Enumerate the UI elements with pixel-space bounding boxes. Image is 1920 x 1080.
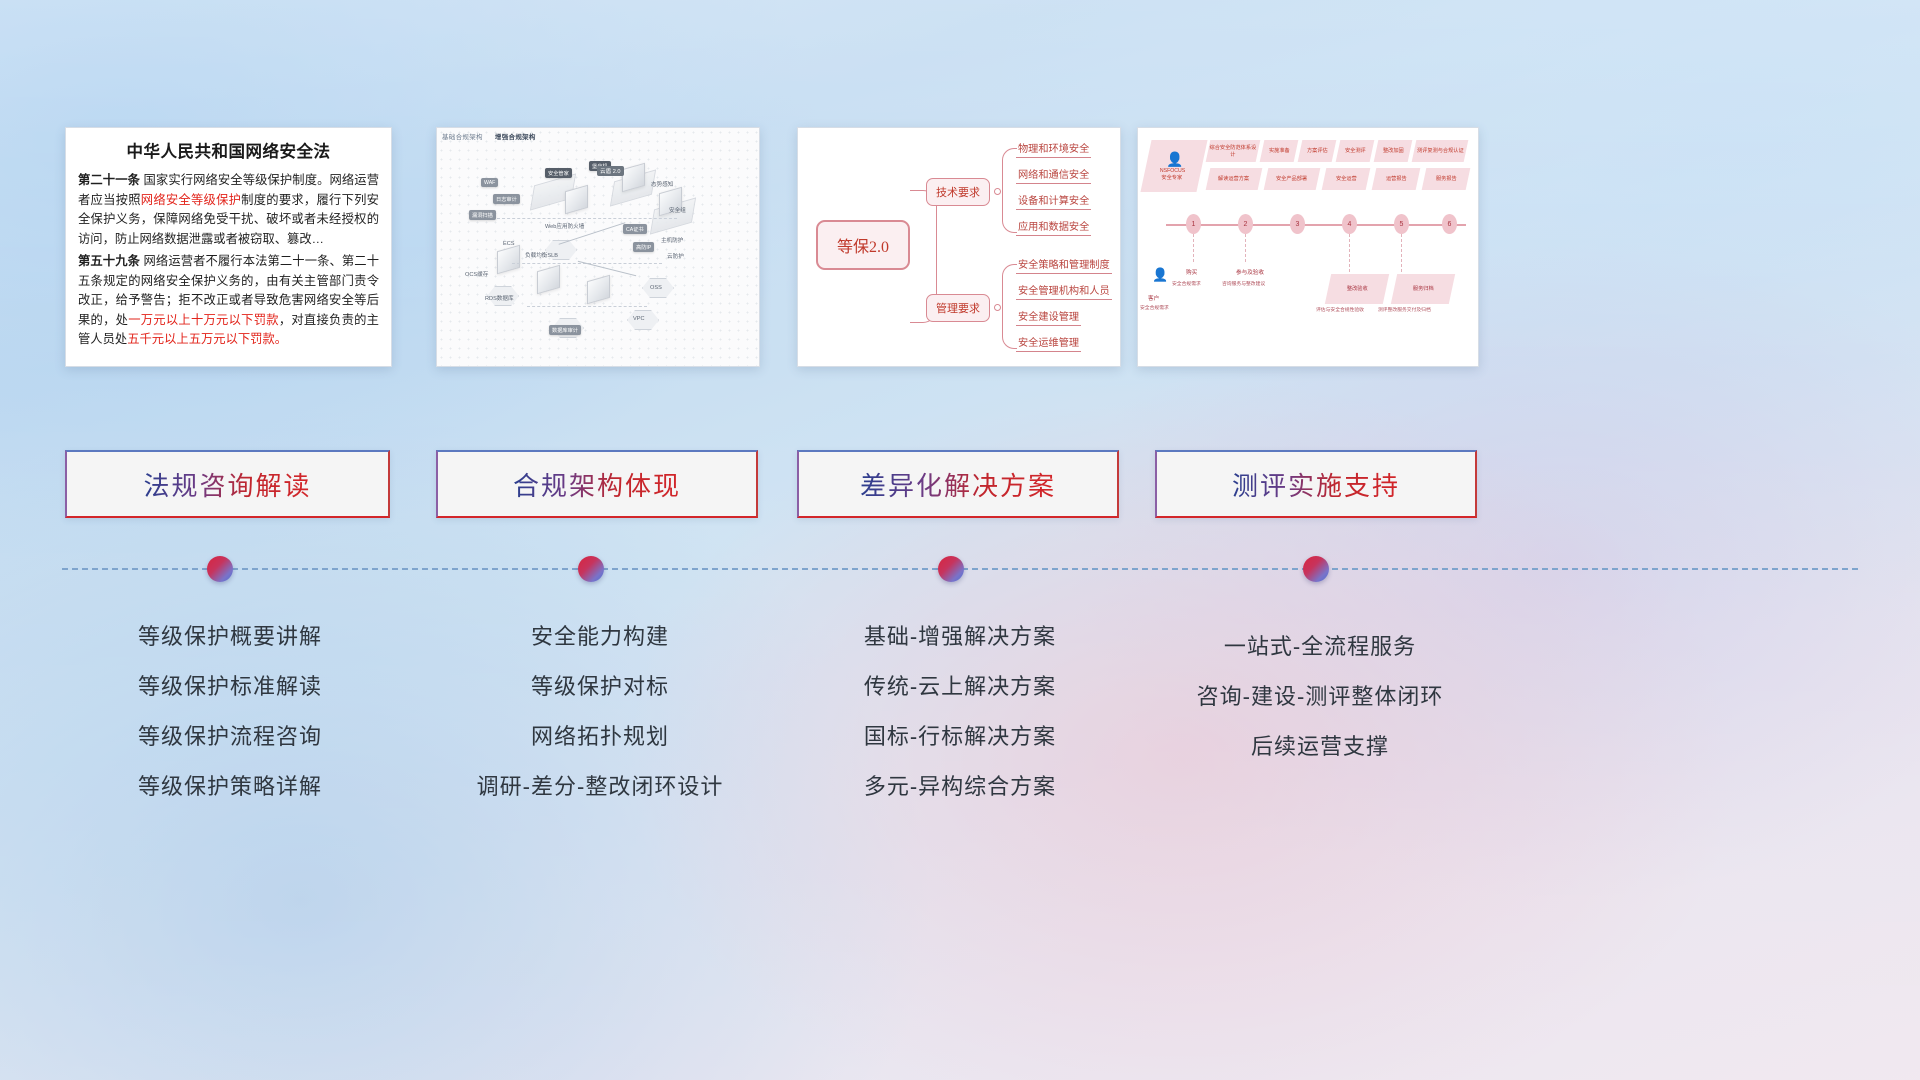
mindmap-connector [1002, 306, 1017, 349]
law-article-59: 第五十九条 网络运营者不履行本法第二十一条、第二十五条规定的网络安全保护义务的，… [78, 252, 379, 350]
arch-tab-enhanced: 增强合规架构 [495, 134, 536, 141]
nsfocus-top-tab: 方案评估 [1298, 140, 1337, 162]
detail-item: 等级保护流程咨询 [60, 712, 400, 762]
detail-item: 多元-异构综合方案 [790, 762, 1130, 812]
nsfocus-result-tab: 服务归档 [1391, 274, 1455, 304]
detail-item: 等级保护策略详解 [60, 762, 400, 812]
arch-label: VPC [633, 316, 645, 322]
nsfocus-phase-tab: 运营报告 [1372, 168, 1421, 190]
nsfocus-phase-tab: 服务报告 [1422, 168, 1471, 190]
architecture-header-tabs: 基础合规架构 增强合规架构 [442, 131, 546, 141]
detail-item: 等级保护对标 [430, 662, 770, 712]
nsfocus-top-tab: 安全测评 [1336, 140, 1375, 162]
nsfocus-phase-tab-label: 安全产品部署 [1276, 176, 1307, 183]
mindmap-connector [1002, 148, 1017, 193]
nsfocus-brand: NSFOCUS [1160, 168, 1185, 175]
nsfocus-axis [1166, 224, 1466, 226]
nsfocus-bottom-title: 参与及验收 [1236, 268, 1264, 276]
arch-label: OSS [650, 285, 662, 291]
nsfocus-top-tab-label: 方案评估 [1307, 148, 1328, 155]
label-box-text: 合规架构体现 [513, 466, 681, 503]
law-article-59-highlight-a: 一万元以上十万元以下罚款 [128, 313, 279, 327]
nsfocus-bottom-sub: 咨询服务与整改建议 [1222, 282, 1265, 288]
arch-label: 云盾 2.0 [597, 166, 624, 176]
arch-tag: CA证书 [623, 224, 647, 234]
nsfocus-phase-tab-label: 解读运营方案 [1218, 176, 1249, 183]
nsfocus-top-tab: 综合安全防范体系设计 [1206, 140, 1261, 162]
label-box-text: 法规咨询解读 [143, 466, 311, 503]
arch-dashed-link [497, 218, 677, 219]
nsfocus-result-sub: 评估与安全合规性验收 [1316, 308, 1364, 314]
nsfocus-tick [1349, 234, 1350, 272]
mindmap-leaf: 物理和环境安全 [1016, 140, 1091, 158]
detail-item: 一站式-全流程服务 [1150, 622, 1490, 672]
detail-column-4: 一站式-全流程服务 咨询-建设-测评整体闭环 后续运营支撑 [1150, 622, 1490, 772]
law-document-body: 中华人民共和国网络安全法 第二十一条 国家实行网络安全等级保护制度。网络运营者应… [66, 128, 391, 366]
nsfocus-phase-tab: 安全产品部署 [1264, 168, 1321, 190]
nsfocus-top-tab-label: 安全测评 [1345, 148, 1366, 155]
nsfocus-step: 1 [1186, 214, 1201, 234]
arch-tag: WAF [481, 178, 498, 187]
card-nsfocus-timeline: 👤 NSFOCUS 安全专家 综合安全防范体系设计 实施准备 方案评估 安全测评… [1137, 127, 1479, 367]
arch-label: 云防护 [667, 252, 684, 260]
nsfocus-top-tab: 实施准备 [1260, 140, 1299, 162]
mindmap-leaf: 安全运维管理 [1016, 334, 1081, 352]
detail-item: 等级保护概要讲解 [60, 612, 400, 662]
arch-tag: 漏洞扫描 [469, 210, 496, 220]
label-box-text: 测评实施支持 [1232, 466, 1400, 503]
mindmap-branch-technical: 技术要求 [926, 178, 990, 206]
nsfocus-phase-tab: 安全运营 [1322, 168, 1371, 190]
arch-label: ECS [503, 241, 515, 247]
mindmap-branch-dot [994, 304, 1001, 311]
nsfocus-phase-tab-label: 安全运营 [1336, 176, 1357, 183]
nsfocus-role: 安全专家 [1161, 175, 1182, 182]
arch-tag: 日志审计 [493, 194, 520, 204]
nsfocus-top-tab-label: 实施准备 [1269, 148, 1290, 155]
architecture-canvas: 基础合规架构 增强合规架构 [437, 128, 759, 366]
label-box-regulation-consulting[interactable]: 法规咨询解读 [65, 450, 390, 518]
card-architecture-diagram: 基础合规架构 增强合规架构 [436, 127, 760, 367]
mindmap-connector [1002, 264, 1017, 309]
law-title: 中华人民共和国网络安全法 [78, 138, 379, 162]
nsfocus-top-tab: 整改加固 [1374, 140, 1413, 162]
timeline-dot[interactable] [207, 556, 233, 582]
nsfocus-step: 4 [1342, 214, 1357, 234]
label-box-compliance-architecture[interactable]: 合规架构体现 [436, 450, 758, 518]
nsfocus-phase-tab-label: 服务报告 [1436, 176, 1457, 183]
label-box-differentiated-solution[interactable]: 差异化解决方案 [797, 450, 1119, 518]
arch-tag: 数据库审计 [549, 325, 581, 335]
customer-sub-label: 安全合规需求 [1140, 306, 1169, 312]
mindmap-connector [1002, 190, 1017, 233]
nsfocus-result-sub: 测评整改服务交付及归档 [1378, 308, 1431, 314]
timeline [0, 560, 1920, 590]
nsfocus-step: 3 [1290, 214, 1305, 234]
nsfocus-result-title: 服务归档 [1413, 286, 1434, 293]
arch-tag: 安全管家 [545, 168, 572, 178]
card-mindmap: 等保2.0 技术要求 物理和环境安全 网络和通信安全 设备和计算安全 应用和数据… [797, 127, 1121, 367]
mindmap-leaf: 安全策略和管理制度 [1016, 256, 1112, 274]
timeline-dot[interactable] [578, 556, 604, 582]
law-article-21-label: 第二十一条 [78, 173, 140, 187]
nsfocus-expert-tab: 👤 NSFOCUS 安全专家 [1140, 140, 1207, 192]
detail-item: 传统-云上解决方案 [790, 662, 1130, 712]
arch-tag: 高防IP [633, 242, 654, 252]
nsfocus-step: 6 [1442, 214, 1457, 234]
arch-label: 负载均衡SLB [525, 251, 558, 259]
arch-label: 主机防护 [661, 236, 683, 244]
detail-column-1: 等级保护概要讲解 等级保护标准解读 等级保护流程咨询 等级保护策略详解 [60, 612, 400, 812]
law-article-21: 第二十一条 国家实行网络安全等级保护制度。网络运营者应当按照网络安全等级保护制度… [78, 171, 379, 249]
arch-dashed-link [527, 306, 647, 307]
arch-label: OCS缓存 [465, 270, 488, 278]
arch-label: 态势感知 [651, 180, 673, 188]
mindmap-leaf: 安全管理机构和人员 [1016, 282, 1112, 300]
customer-label: 客户 [1148, 294, 1159, 302]
nsfocus-top-tab: 测评复测与合规认证 [1412, 140, 1469, 162]
detail-item: 调研-差分-整改闭环设计 [430, 762, 770, 812]
timeline-dot[interactable] [938, 556, 964, 582]
nsfocus-phase-tab-label: 运营报告 [1386, 176, 1407, 183]
nsfocus-bottom-title: 购买 [1186, 268, 1197, 276]
arch-label: 安全组 [669, 206, 686, 214]
nsfocus-tick [1401, 234, 1402, 272]
nsfocus-top-tab-label: 综合安全防范体系设计 [1208, 145, 1258, 158]
arch-tab-basic: 基础合规架构 [442, 134, 483, 141]
label-box-assessment-support[interactable]: 测评实施支持 [1155, 450, 1477, 518]
detail-item: 国标-行标解决方案 [790, 712, 1130, 762]
law-article-21-highlight: 网络安全等级保护 [141, 193, 241, 207]
nsfocus-canvas: 👤 NSFOCUS 安全专家 综合安全防范体系设计 实施准备 方案评估 安全测评… [1138, 128, 1478, 366]
nsfocus-step: 5 [1394, 214, 1409, 234]
customer-icon: 👤 [1152, 268, 1168, 281]
arch-label: RDS数据库 [485, 294, 514, 302]
nsfocus-result-tab: 整改验收 [1325, 274, 1389, 304]
nsfocus-tick [1193, 234, 1194, 262]
nsfocus-tick [1245, 234, 1246, 262]
card-law-document: 中华人民共和国网络安全法 第二十一条 国家实行网络安全等级保护制度。网络运营者应… [65, 127, 392, 367]
nsfocus-phase-tab: 解读运营方案 [1206, 168, 1263, 190]
detail-item: 网络拓扑规划 [430, 712, 770, 762]
detail-column-2: 安全能力构建 等级保护对标 网络拓扑规划 调研-差分-整改闭环设计 [430, 612, 770, 812]
person-star-icon: 👤 [1167, 151, 1184, 169]
detail-item: 咨询-建设-测评整体闭环 [1150, 672, 1490, 722]
mindmap-canvas: 等保2.0 技术要求 物理和环境安全 网络和通信安全 设备和计算安全 应用和数据… [798, 128, 1120, 366]
mindmap-leaf: 安全建设管理 [1016, 308, 1081, 326]
nsfocus-result-title: 整改验收 [1347, 286, 1368, 293]
nsfocus-top-tab-label: 测评复测与合规认证 [1417, 148, 1464, 155]
detail-item: 等级保护标准解读 [60, 662, 400, 712]
mindmap-leaf: 应用和数据安全 [1016, 218, 1091, 236]
detail-column-3: 基础-增强解决方案 传统-云上解决方案 国标-行标解决方案 多元-异构综合方案 [790, 612, 1130, 812]
law-article-59-label: 第五十九条 [78, 254, 140, 268]
image-card-row: 中华人民共和国网络安全法 第二十一条 国家实行网络安全等级保护制度。网络运营者应… [0, 127, 1920, 365]
mindmap-branch-dot [994, 188, 1001, 195]
detail-item: 基础-增强解决方案 [790, 612, 1130, 662]
mindmap-leaf: 网络和通信安全 [1016, 166, 1091, 184]
infographic-root: 中华人民共和国网络安全法 第二十一条 国家实行网络安全等级保护制度。网络运营者应… [0, 0, 1920, 1080]
arch-label: Web应用防火墙 [545, 222, 584, 230]
nsfocus-step: 2 [1238, 214, 1253, 234]
mindmap-root-node: 等保2.0 [816, 220, 910, 270]
detail-item: 安全能力构建 [430, 612, 770, 662]
label-box-text: 差异化解决方案 [860, 466, 1056, 503]
timeline-dot[interactable] [1303, 556, 1329, 582]
mindmap-leaf: 设备和计算安全 [1016, 192, 1091, 210]
nsfocus-bottom-sub: 安全合规需求 [1172, 282, 1201, 288]
detail-item: 后续运营支撑 [1150, 722, 1490, 772]
label-box-row: 法规咨询解读 合规架构体现 差异化解决方案 测评实施支持 [0, 450, 1920, 520]
mindmap-branch-management: 管理要求 [926, 294, 990, 322]
nsfocus-top-tab-label: 整改加固 [1383, 148, 1404, 155]
law-article-59-highlight-b: 五千元以上五万元以下罚款。 [127, 332, 287, 346]
